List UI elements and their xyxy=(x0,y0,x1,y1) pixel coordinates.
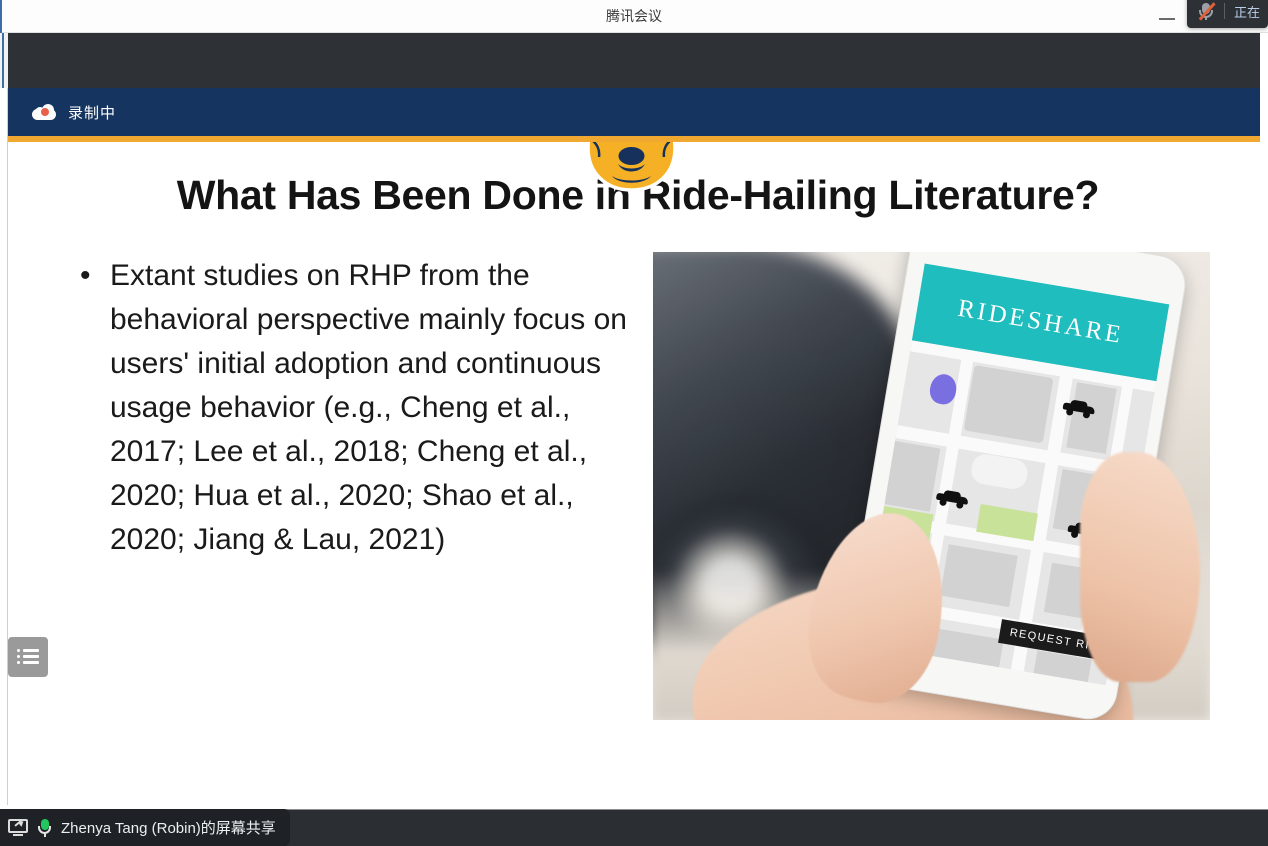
microphone-on-icon[interactable] xyxy=(37,818,52,838)
bottom-status-bar: Zhenya Tang (Robin)的屏幕共享 xyxy=(0,805,1268,846)
floating-meeting-toolbar[interactable]: 正在 xyxy=(1187,0,1268,28)
meeting-top-band xyxy=(8,33,1260,88)
microphone-muted-icon[interactable] xyxy=(1197,1,1215,21)
cloud-recording-icon xyxy=(32,104,56,121)
window-titlebar: 腾讯会议 正在 xyxy=(0,0,1268,33)
bullet-marker: • xyxy=(70,254,110,562)
screen-share-label: Zhenya Tang (Robin)的屏幕共享 xyxy=(61,817,276,838)
list-outline-icon xyxy=(17,649,39,665)
minimize-button[interactable] xyxy=(1156,6,1178,28)
minimize-icon xyxy=(1159,18,1175,20)
window-left-gutter xyxy=(0,33,8,88)
recording-band: 录制中 xyxy=(8,88,1260,136)
unc-bear-logo-icon xyxy=(570,142,693,195)
recording-indicator: 录制中 xyxy=(32,88,116,136)
shared-slide: What Has Been Done in Ride-Hailing Liter… xyxy=(8,142,1260,805)
rideshare-photo: RIDESHARE xyxy=(653,252,1210,720)
app-title: 腾讯会议 xyxy=(0,0,1268,33)
car-marker xyxy=(936,489,970,507)
screen-share-status[interactable]: Zhenya Tang (Robin)的屏幕共享 xyxy=(0,809,290,846)
meeting-status-text: 正在 xyxy=(1234,2,1260,21)
recording-label: 录制中 xyxy=(68,102,116,123)
slide-bullet-list: • Extant studies on RHP from the behavio… xyxy=(70,254,630,562)
meeting-window: 腾讯会议 正在 xyxy=(0,0,1268,846)
toolbar-divider xyxy=(1224,3,1225,19)
slide-outline-button[interactable] xyxy=(8,637,48,677)
bullet-text: Extant studies on RHP from the behaviora… xyxy=(110,254,630,562)
screen-share-icon xyxy=(8,819,28,836)
